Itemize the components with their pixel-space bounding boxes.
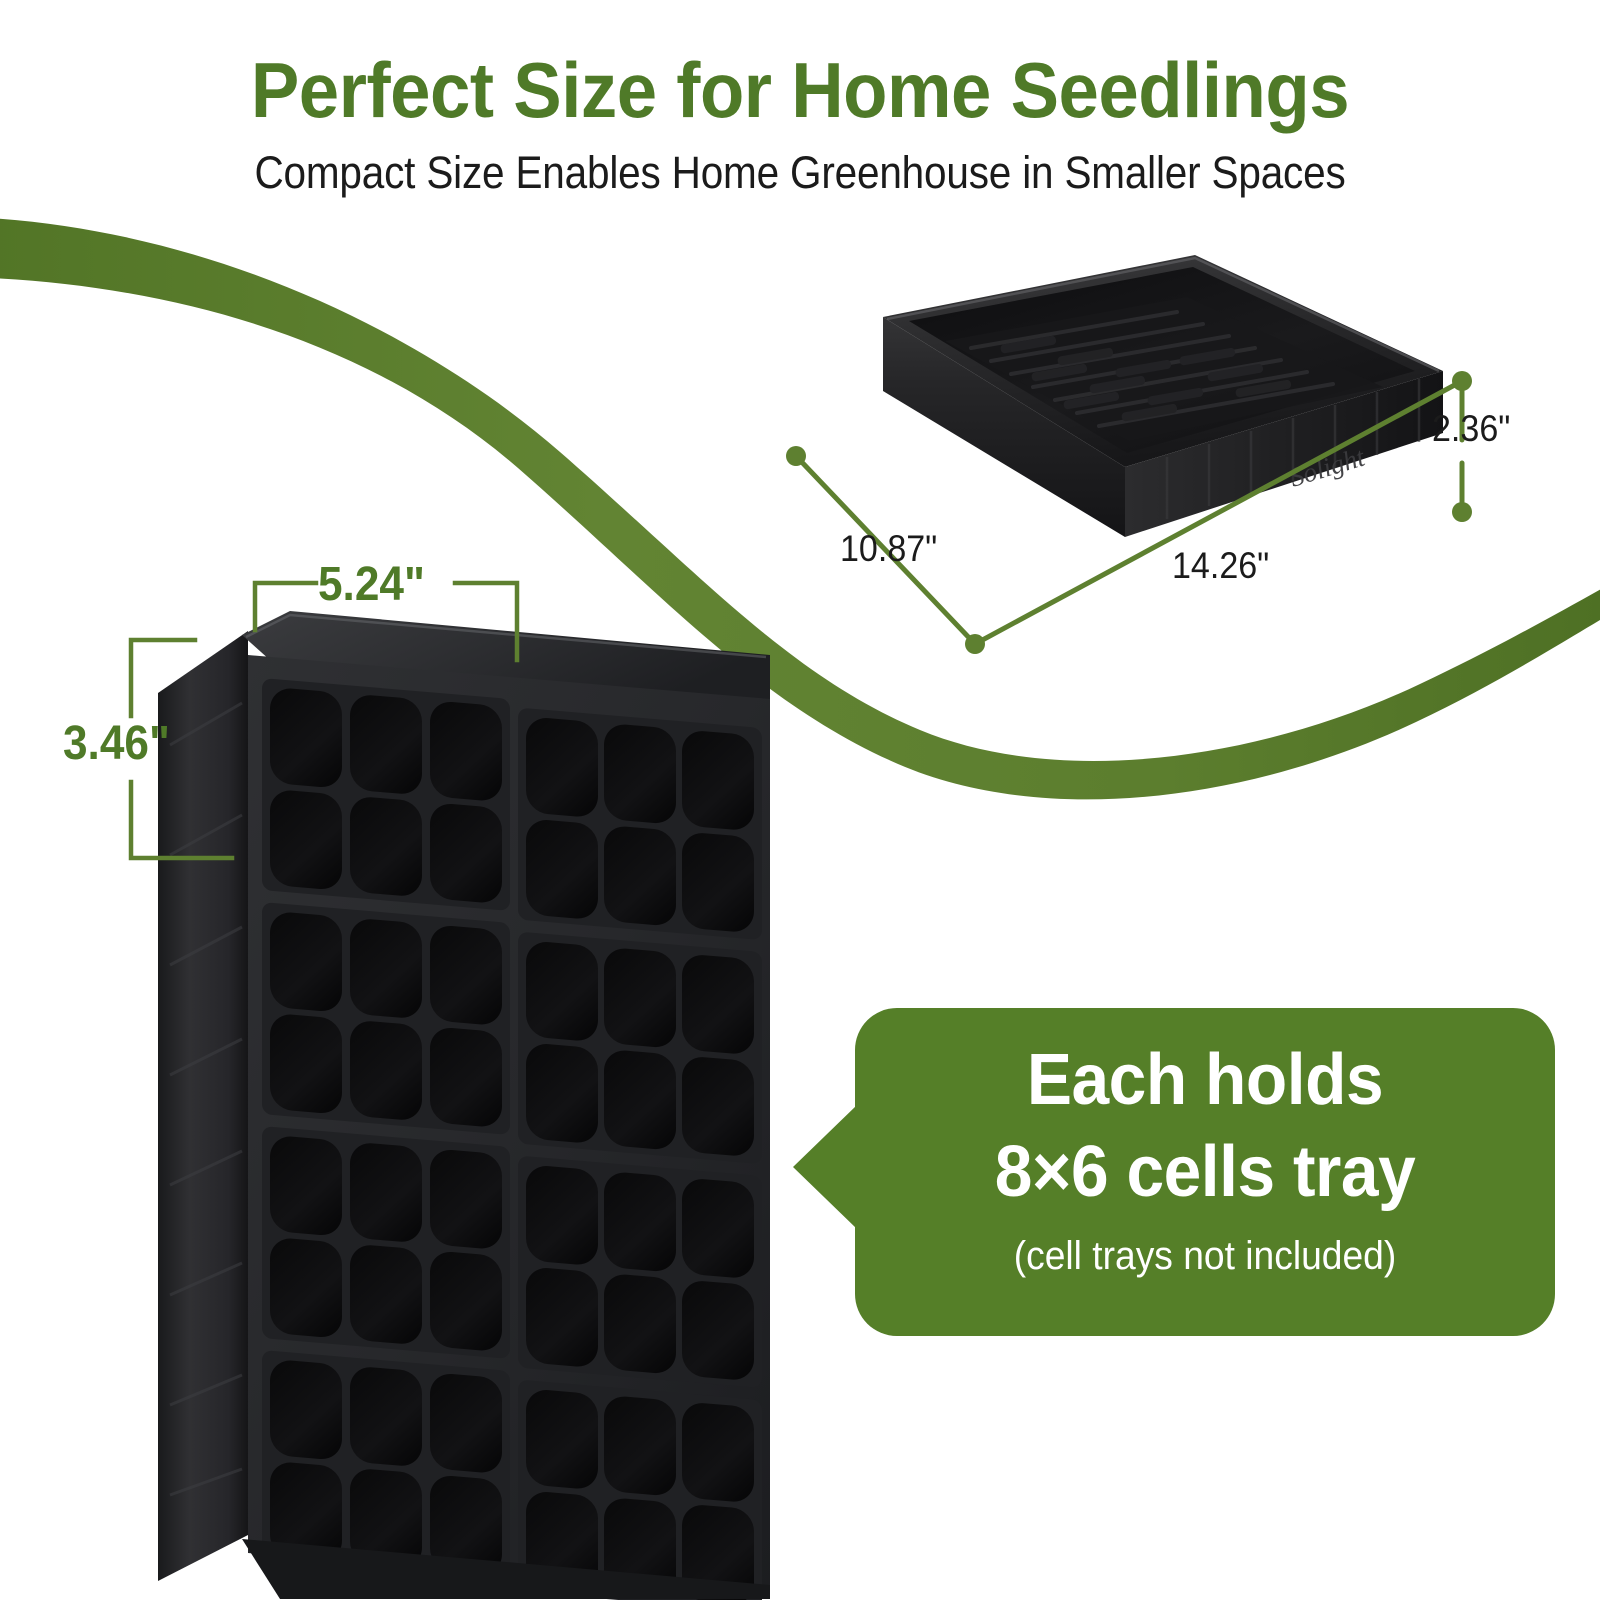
dim-label-insert-width: 5.24" <box>318 557 425 612</box>
dim-label-height: 2.36" <box>1432 408 1510 450</box>
dim-label-insert-height: 3.46" <box>63 716 170 771</box>
callout-tail-arrow <box>793 1105 857 1229</box>
callout-line-2: 8×6 cells tray <box>876 1126 1534 1218</box>
dim-label-depth: 10.87" <box>840 528 937 570</box>
page-title: Perfect Size for Home Seedlings <box>56 48 1544 132</box>
stack-left-wall <box>158 631 248 1581</box>
cell-tray-image <box>130 595 770 1600</box>
header: Perfect Size for Home Seedlings Compact … <box>0 0 1600 215</box>
page-subtitle: Compact Size Enables Home Greenhouse in … <box>80 147 1520 199</box>
callout-box: Each holds 8×6 cells tray (cell trays no… <box>855 1008 1555 1336</box>
infographic-canvas: Perfect Size for Home Seedlings Compact … <box>0 0 1600 1600</box>
callout-line-1: Each holds <box>876 1034 1534 1126</box>
dim-label-width: 14.26" <box>1172 545 1269 587</box>
callout-note: (cell trays not included) <box>880 1230 1531 1282</box>
